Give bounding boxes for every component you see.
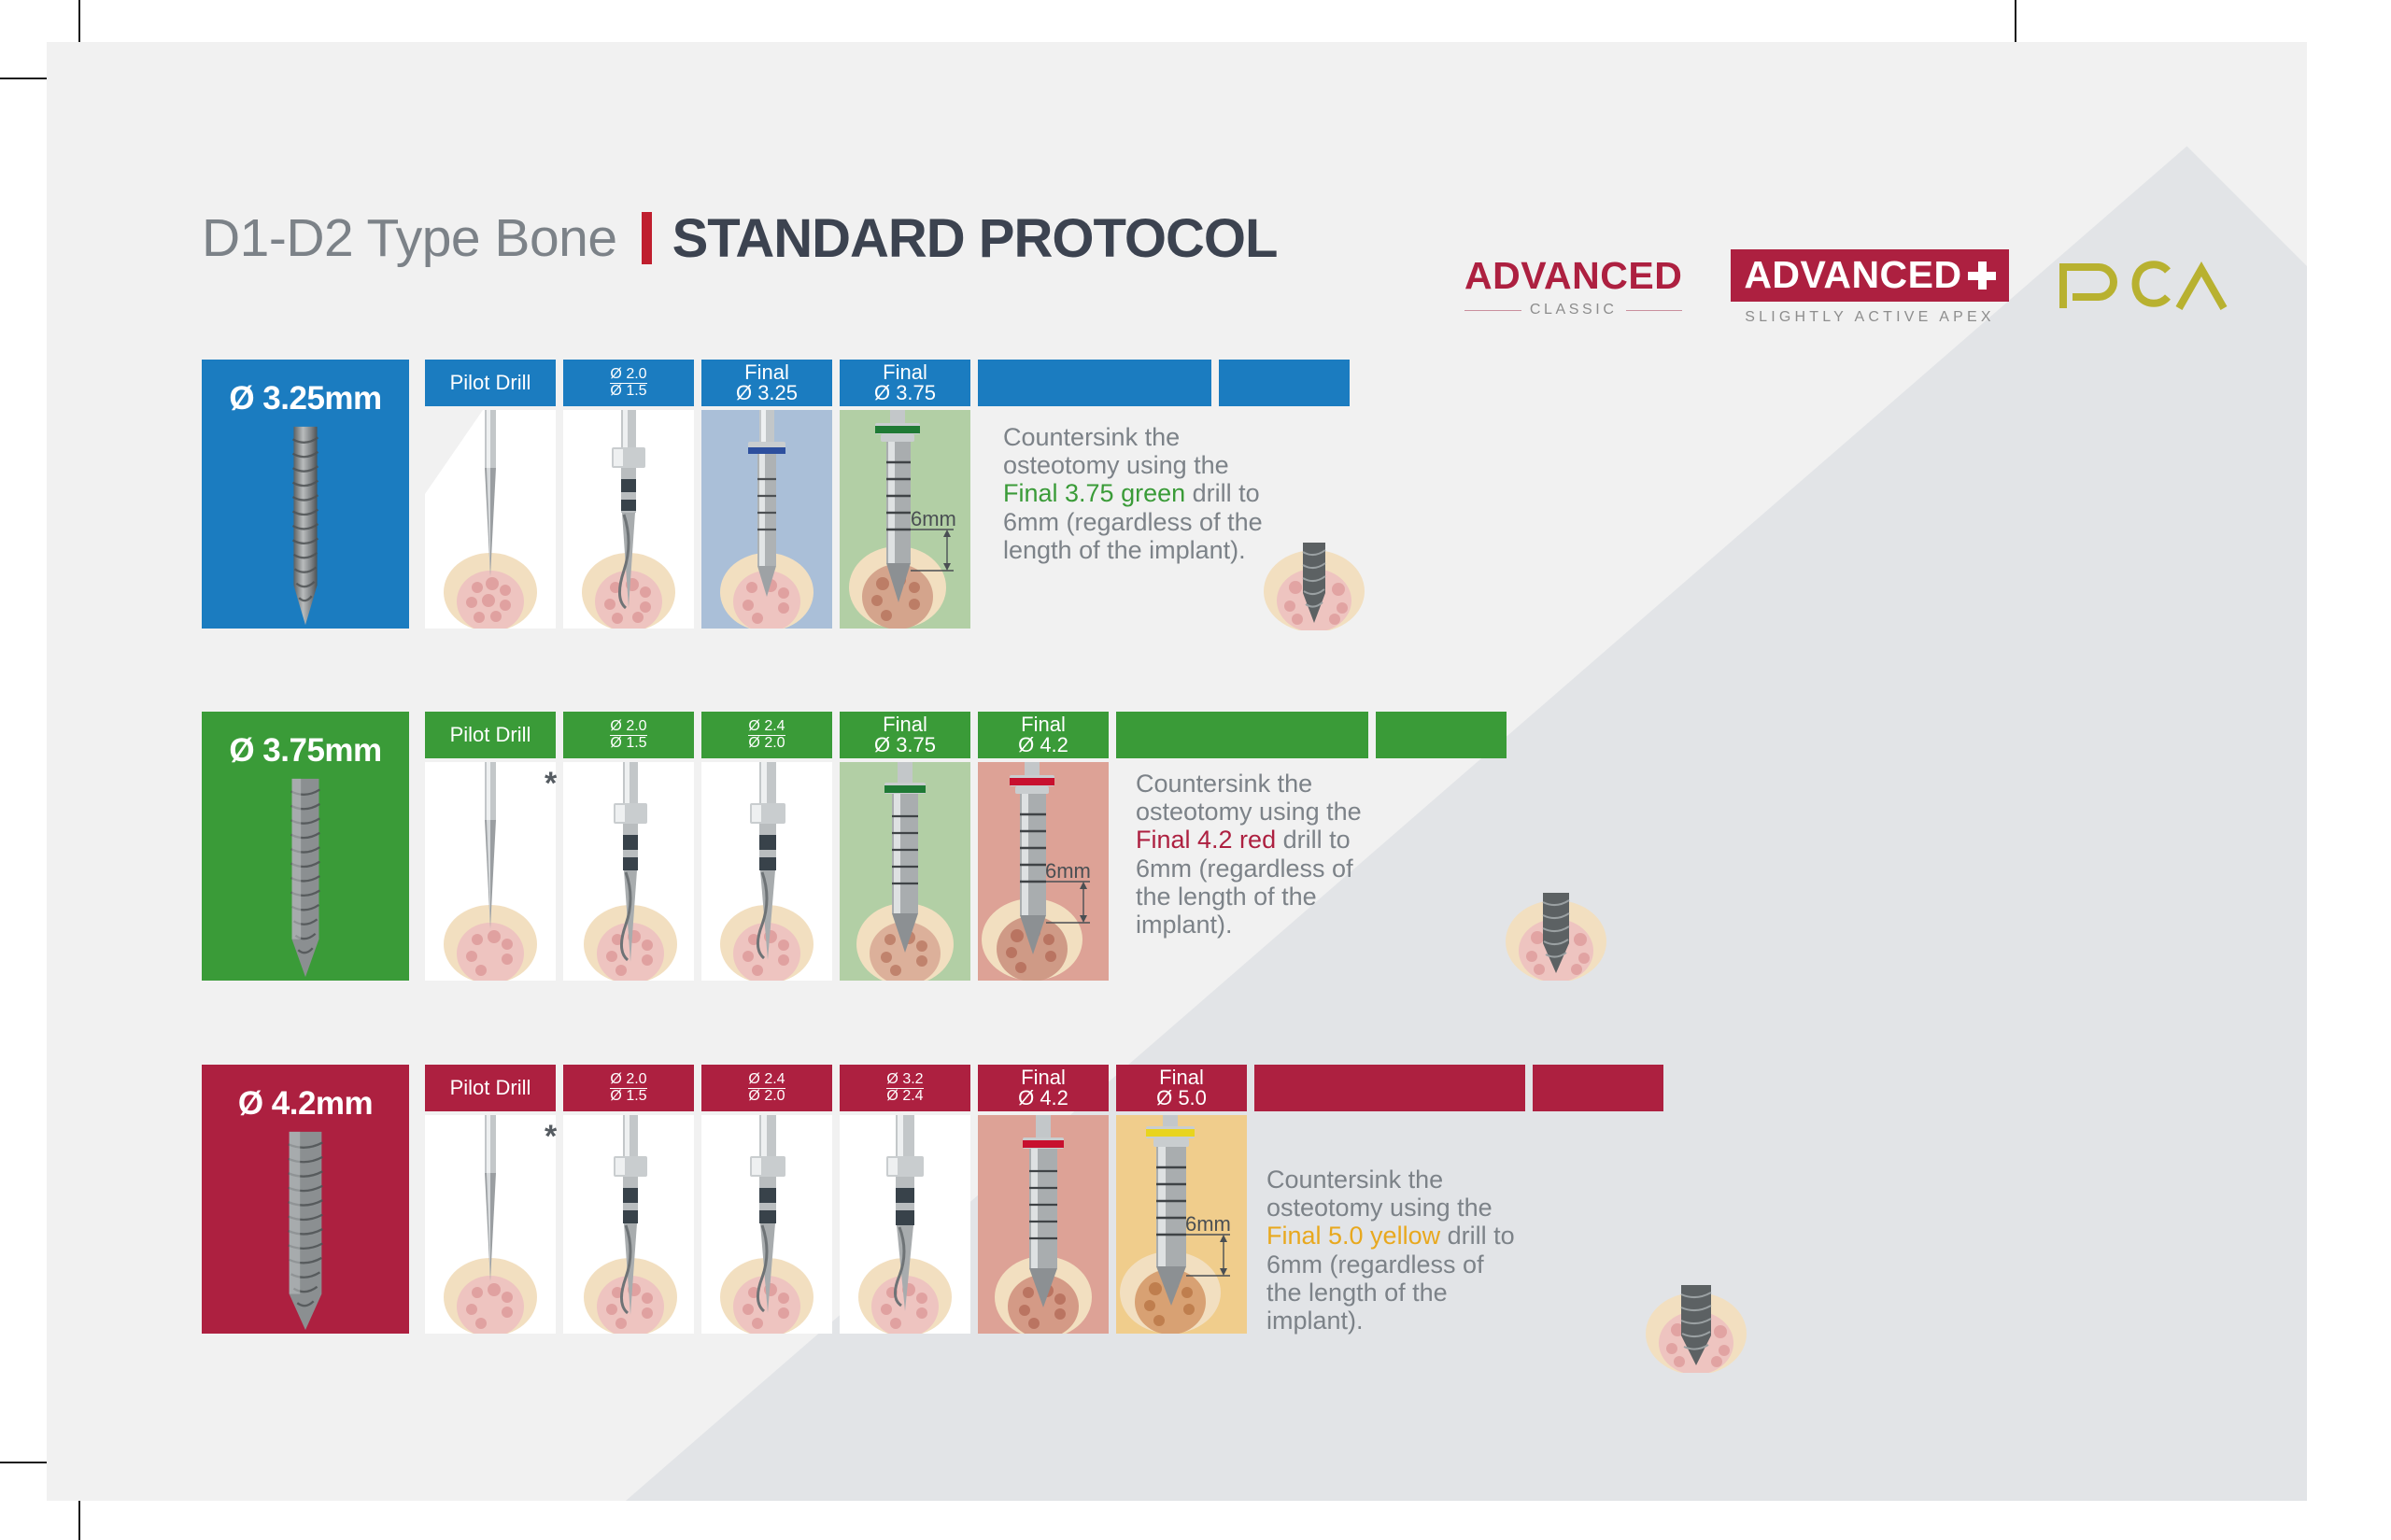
note-highlight: Final 3.75 green	[1003, 479, 1185, 507]
twist-drill-illustration	[701, 1115, 832, 1334]
logo-group: ADVANCED CLASSIC ADVANCED SLIGHTLY ACTIV…	[1464, 249, 2229, 326]
final-implant-illustration	[1631, 1214, 1761, 1373]
twist-drill-illustration	[563, 1115, 694, 1334]
logo-pca	[2058, 260, 2229, 317]
twist-drill-illustration	[840, 1115, 970, 1334]
column-header: Ø 2.0 Ø 1.5	[563, 360, 694, 406]
column-header: Final Ø 3.75	[840, 360, 970, 406]
column-header: Final Ø 4.2	[978, 712, 1109, 758]
logo-rule-left	[1464, 310, 1521, 311]
row-badge-42: Ø 4.2mm	[202, 1065, 409, 1334]
column-drill-2-4[interactable]: Ø 2.4 Ø 2.0	[701, 1065, 832, 1111]
column-header-line1: Final	[1021, 714, 1066, 735]
column-header: Ø 2.0 Ø 1.5	[563, 712, 694, 758]
row-tail-bar-b	[1533, 1065, 1663, 1111]
column-header-line1: Ø 3.2	[886, 1072, 923, 1089]
column-drill-2-4[interactable]: Ø 2.4 Ø 2.0	[701, 712, 832, 758]
column-header-line1: Pilot Drill	[450, 725, 531, 745]
page-title: D1-D2 Type Bone STANDARD PROTOCOL	[202, 196, 1277, 280]
plus-icon	[1968, 261, 1996, 290]
final-implant-illustration	[1491, 822, 1621, 981]
column-header-line1: Ø 2.4	[748, 1072, 785, 1089]
implant-screw-icon	[268, 1128, 343, 1334]
row-note-325: Countersink the osteotomy using the Fina…	[1003, 423, 1266, 564]
poster-page: D1-D2 Type Bone STANDARD PROTOCOL ADVANC…	[0, 0, 2391, 1540]
column-header-line2: Ø 1.5	[610, 736, 646, 751]
column-header: Ø 3.2 Ø 2.4	[840, 1065, 970, 1111]
final-drill-illustration	[978, 1115, 1109, 1334]
row-diameter-label: Ø 3.75mm	[229, 732, 381, 770]
column-header-line1: Final	[1021, 1067, 1066, 1088]
countersink-drill-illustration: 6mm	[978, 762, 1109, 981]
logo-rule-right	[1626, 310, 1683, 311]
row-note-42: Countersink the osteotomy using the Fina…	[1266, 1166, 1521, 1335]
countersink-drill-illustration: 6mm	[1116, 1115, 1247, 1334]
pilot-drill-illustration	[425, 762, 556, 981]
implant-screw-icon	[273, 423, 338, 629]
pilot-drill-illustration	[425, 1115, 556, 1334]
column-drill-2-0[interactable]: Ø 2.0 Ø 1.5	[563, 712, 694, 758]
column-header-line1: Ø 2.0	[610, 719, 646, 736]
logo-advanced-sub: CLASSIC	[1530, 302, 1618, 318]
column-final-4-2[interactable]: Final Ø 4.2	[978, 712, 1109, 758]
column-header-line1: Final	[1159, 1067, 1204, 1088]
twist-drill-illustration	[701, 762, 832, 981]
column-final-4-2[interactable]: Final Ø 4.2	[978, 1065, 1109, 1111]
poster-artboard: D1-D2 Type Bone STANDARD PROTOCOL ADVANC…	[47, 42, 2307, 1501]
title-bold: STANDARD PROTOCOL	[672, 207, 1278, 270]
column-pilot-drill[interactable]: Pilot Drill	[425, 712, 556, 758]
final-implant-illustration	[1249, 472, 1379, 630]
column-header-line2: Ø 3.75	[874, 735, 936, 756]
twist-drill-illustration	[563, 762, 694, 981]
asterisk-note-marker: *	[545, 768, 557, 799]
row-badge-375: Ø 3.75mm	[202, 712, 409, 981]
measure-label: 6mm	[1045, 859, 1091, 883]
column-header-line2: Ø 2.0	[748, 736, 785, 751]
column-header: Pilot Drill	[425, 360, 556, 406]
measure-label: 6mm	[1185, 1212, 1231, 1236]
column-header-line2: Ø 3.75	[874, 383, 936, 403]
pilot-drill-illustration	[425, 410, 556, 629]
row-tail-bar-a	[1116, 712, 1368, 758]
final-drill-illustration	[840, 762, 970, 981]
column-header-line2: Ø 1.5	[610, 1089, 646, 1104]
note-highlight: Final 4.2 red	[1136, 826, 1276, 854]
column-header-line2: Ø 2.4	[886, 1089, 923, 1104]
column-drill-2-0[interactable]: Ø 2.0 Ø 1.5	[563, 360, 694, 406]
asterisk-note-marker: *	[545, 1121, 557, 1152]
title-light: D1-D2 Type Bone	[202, 207, 617, 269]
column-header: Final Ø 3.75	[840, 712, 970, 758]
column-header-line1: Pilot Drill	[450, 373, 531, 393]
countersink-drill-illustration: 6mm	[840, 410, 970, 629]
column-header-line1: Pilot Drill	[450, 1078, 531, 1098]
logo-advanced-plus: ADVANCED SLIGHTLY ACTIVE APEX	[1731, 249, 2008, 326]
logo-advanced-classic: ADVANCED CLASSIC	[1464, 257, 1682, 318]
column-pilot-drill[interactable]: Pilot Drill	[425, 360, 556, 406]
column-final-3-25[interactable]: Final Ø 3.25	[701, 360, 832, 406]
column-header-line2: Ø 5.0	[1156, 1088, 1207, 1109]
row-tail-bar-b	[1376, 712, 1507, 758]
column-header: Ø 2.0 Ø 1.5	[563, 1065, 694, 1111]
column-header-line1: Ø 2.0	[610, 1072, 646, 1089]
column-header-line2: Ø 1.5	[610, 384, 646, 399]
column-header: Ø 2.4 Ø 2.0	[701, 712, 832, 758]
title-divider-bar	[642, 212, 652, 264]
row-tail-bar-b	[1219, 360, 1350, 406]
final-drill-illustration	[701, 410, 832, 629]
column-header-line1: Ø 2.4	[748, 719, 785, 736]
row-tail-bar-a	[978, 360, 1211, 406]
column-header-line2: Ø 2.0	[748, 1089, 785, 1104]
note-pre: Countersink the osteotomy using the	[1266, 1166, 1493, 1222]
column-drill-3-2[interactable]: Ø 3.2 Ø 2.4	[840, 1065, 970, 1111]
note-pre: Countersink the osteotomy using the	[1136, 770, 1362, 826]
column-final-3-75[interactable]: Final Ø 3.75	[840, 360, 970, 406]
column-final-5-0[interactable]: Final Ø 5.0	[1116, 1065, 1247, 1111]
column-header: Final Ø 4.2	[978, 1065, 1109, 1111]
row-note-375: Countersink the osteotomy using the Fina…	[1136, 770, 1386, 939]
column-drill-2-0[interactable]: Ø 2.0 Ø 1.5	[563, 1065, 694, 1111]
column-header-line1: Final	[883, 362, 927, 383]
column-header: Ø 2.4 Ø 2.0	[701, 1065, 832, 1111]
twist-drill-illustration	[563, 410, 694, 629]
logo-advanced-word: ADVANCED	[1464, 257, 1682, 295]
column-header-line1: Final	[744, 362, 789, 383]
logo-advanced-plus-word: ADVANCED	[1744, 256, 1961, 294]
note-pre: Countersink the osteotomy using the	[1003, 423, 1229, 479]
column-header: Final Ø 5.0	[1116, 1065, 1247, 1111]
logo-advanced-plus-sub: SLIGHTLY ACTIVE APEX	[1745, 309, 1994, 326]
row-badge-325: Ø 3.25mm	[202, 360, 409, 629]
column-header-line1: Ø 2.0	[610, 367, 646, 384]
column-pilot-drill[interactable]: Pilot Drill	[425, 1065, 556, 1111]
row-diameter-label: Ø 3.25mm	[229, 380, 381, 417]
row-tail-bar-a	[1254, 1065, 1525, 1111]
column-header-line2: Ø 4.2	[1018, 1088, 1068, 1109]
column-header-line2: Ø 4.2	[1018, 735, 1068, 756]
column-header-line2: Ø 3.25	[736, 383, 798, 403]
pca-wordmark-icon	[2058, 260, 2229, 312]
measure-label: 6mm	[911, 507, 956, 530]
row-diameter-label: Ø 4.2mm	[238, 1085, 373, 1123]
implant-screw-icon	[271, 775, 340, 981]
column-header: Pilot Drill	[425, 712, 556, 758]
note-highlight: Final 5.0 yellow	[1266, 1222, 1440, 1250]
column-header: Pilot Drill	[425, 1065, 556, 1111]
column-final-3-75[interactable]: Final Ø 3.75	[840, 712, 970, 758]
column-header: Final Ø 3.25	[701, 360, 832, 406]
column-header-line1: Final	[883, 714, 927, 735]
